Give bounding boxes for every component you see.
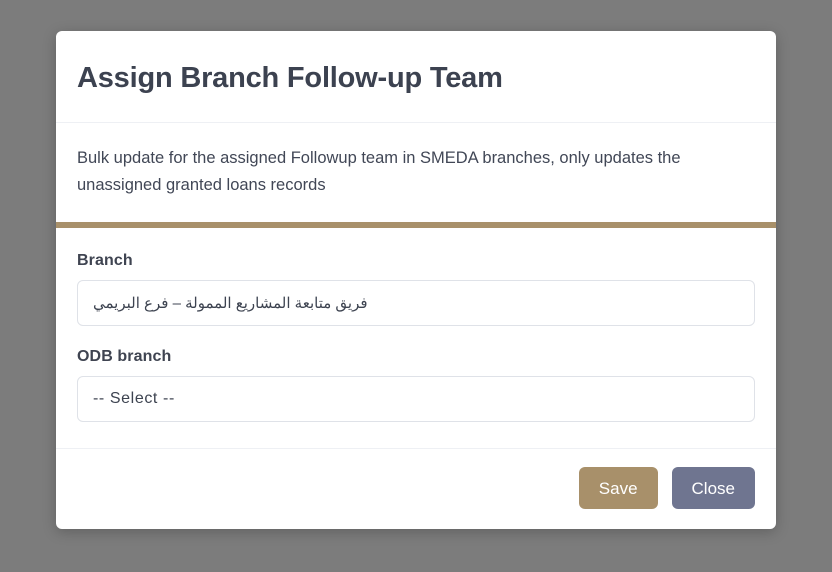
close-button[interactable]: Close [672, 467, 755, 509]
dialog-description: Bulk update for the assigned Followup te… [77, 145, 749, 198]
dialog-description-section: Bulk update for the assigned Followup te… [56, 123, 776, 222]
dialog-header: Assign Branch Follow-up Team [56, 31, 776, 123]
assign-branch-followup-team-dialog: Assign Branch Follow-up Team Bulk update… [56, 31, 776, 529]
odb-branch-select[interactable]: -- Select -- [77, 376, 755, 422]
dialog-title: Assign Branch Follow-up Team [77, 61, 755, 96]
branch-input[interactable]: فريق متابعة المشاريع الممولة – فرع البري… [77, 280, 755, 326]
odb-branch-field-label: ODB branch [77, 348, 755, 366]
save-button[interactable]: Save [579, 467, 658, 509]
dialog-body: Branch فريق متابعة المشاريع الممولة – فر… [56, 228, 776, 448]
branch-field-group: Branch فريق متابعة المشاريع الممولة – فر… [77, 252, 755, 326]
dialog-footer: Save Close [56, 448, 776, 529]
branch-field-label: Branch [77, 252, 755, 270]
odb-branch-field-group: ODB branch -- Select -- [77, 348, 755, 422]
